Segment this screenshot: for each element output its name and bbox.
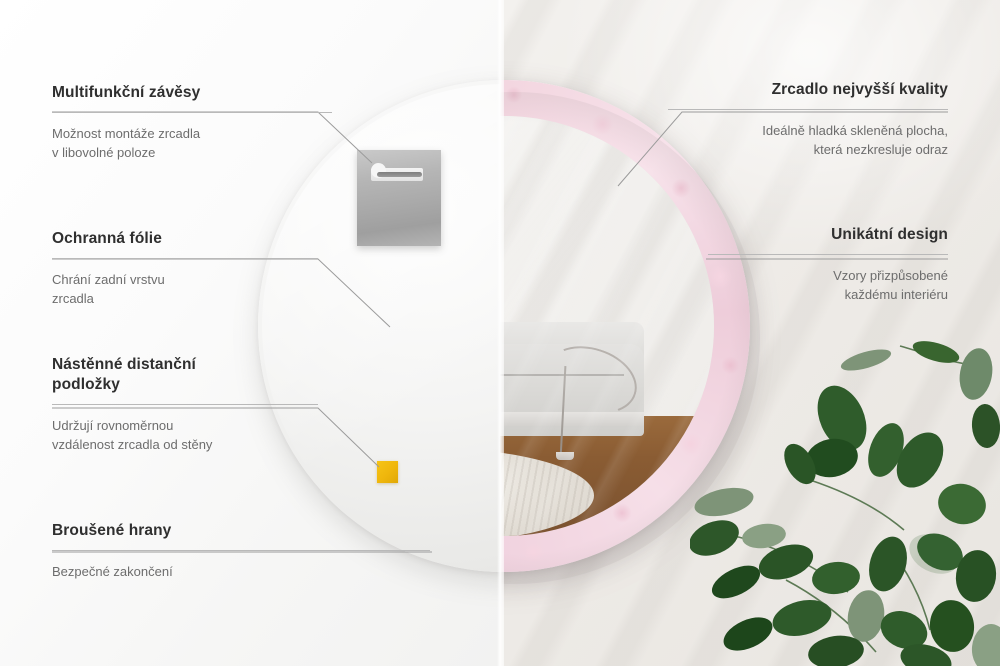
hanger-plate: [357, 150, 441, 246]
callout-description: Bezpečné zakončení: [52, 562, 430, 581]
callout-desc-line-1: Ideálně hladká skleněná plocha,: [762, 123, 948, 138]
callout-wall-spacers: Nástěnné distanční podložky Udržují rovn…: [52, 355, 318, 454]
callout-protective-film: Ochranná fólie Chrání zadní vrstvu zrcad…: [52, 229, 318, 308]
hanger-slot-shadow: [377, 172, 422, 177]
callout-rule: [52, 550, 430, 551]
callout-rule: [708, 254, 948, 255]
callout-description: Ideálně hladká skleněná plocha, která ne…: [668, 121, 948, 159]
callout-highest-quality-mirror: Zrcadlo nejvyšší kvality Ideálně hladká …: [668, 80, 948, 159]
callout-rule: [52, 404, 318, 405]
infographic-stage: Multifunkční závěsy Možnost montáže zrca…: [0, 0, 1000, 666]
callout-desc-line-1: Vzory přizpůsobené: [833, 268, 948, 283]
callout-title: Zrcadlo nejvyšší kvality: [668, 80, 948, 100]
callout-description: Možnost montáže zrcadla v libovolné polo…: [52, 124, 332, 162]
callout-rule: [52, 112, 332, 113]
callout-title: Nástěnné distanční podložky: [52, 355, 318, 395]
callout-desc-line-2: v libovolné poloze: [52, 145, 155, 160]
callout-desc-line-2: vzdálenost zrcadla od stěny: [52, 437, 212, 452]
foliage-decoration: [690, 330, 1000, 666]
callout-desc-line-2: každému interiéru: [845, 287, 948, 302]
callout-rule: [668, 109, 948, 110]
callout-multifunctional-hangers: Multifunkční závěsy Možnost montáže zrca…: [52, 83, 332, 162]
callout-desc-line-1: Chrání zadní vrstvu: [52, 272, 165, 287]
callout-desc-line-2: zrcadla: [52, 291, 94, 306]
callout-title: Multifunkční závěsy: [52, 83, 332, 103]
callout-rule: [52, 258, 318, 259]
callout-desc-line-1: Možnost montáže zrcadla: [52, 126, 200, 141]
callout-title-line-1: Nástěnné distanční: [52, 356, 196, 373]
panel-divider: [497, 0, 504, 666]
callout-title: Unikátní design: [708, 225, 948, 245]
yellow-spacer-pad: [377, 461, 398, 483]
callout-description: Vzory přizpůsobené každému interiéru: [708, 266, 948, 304]
callout-polished-edges: Broušené hrany Bezpečné zakončení: [52, 521, 430, 581]
callout-unique-design: Unikátní design Vzory přizpůsobené každé…: [708, 225, 948, 304]
callout-title: Broušené hrany: [52, 521, 430, 541]
callout-desc-line-1: Udržují rovnoměrnou: [52, 418, 173, 433]
callout-description: Udržují rovnoměrnou vzdálenost zrcadla o…: [52, 416, 318, 454]
callout-description: Chrání zadní vrstvu zrcadla: [52, 270, 318, 308]
callout-title-line-2: podložky: [52, 376, 120, 393]
callout-desc-line-2: která nezkresluje odraz: [814, 142, 948, 157]
callout-title: Ochranná fólie: [52, 229, 318, 249]
